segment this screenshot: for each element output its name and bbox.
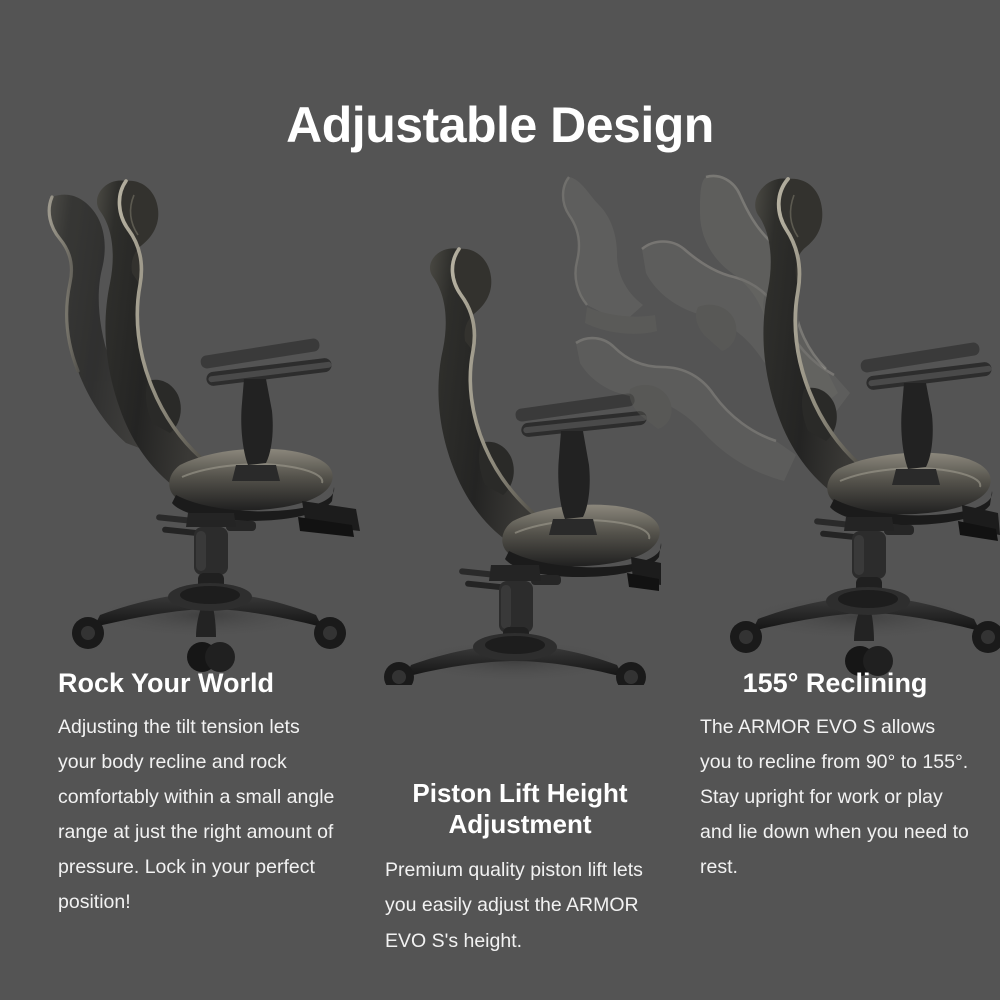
feature-body-recline: The ARMOR EVO S allows you to recline fr… — [700, 710, 970, 885]
page-title: Adjustable Design — [0, 100, 1000, 150]
illustration-stage — [0, 165, 1000, 685]
chair-illustration-rocking — [30, 165, 370, 685]
feature-heading-piston: Piston Lift Height Adjustment — [385, 778, 655, 839]
feature-heading-rock: Rock Your World — [58, 668, 343, 700]
feature-body-rock: Adjusting the tilt tension lets your bod… — [58, 710, 343, 921]
footrest — [958, 505, 1000, 541]
feature-column-piston: Piston Lift Height Adjustment Premium qu… — [385, 778, 655, 959]
infographic-page: Adjustable Design — [0, 0, 1000, 1000]
feature-heading-recline: 155° Reclining — [700, 668, 970, 700]
chair-illustration-reclining — [570, 165, 1000, 685]
footrest — [298, 501, 360, 537]
feature-column-recline: 155° Reclining The ARMOR EVO S allows yo… — [700, 668, 970, 885]
feature-body-piston: Premium quality piston lift lets you eas… — [385, 853, 655, 958]
backrest — [430, 248, 541, 545]
backrest — [97, 180, 208, 491]
feature-column-rock: Rock Your World Adjusting the tilt tensi… — [58, 668, 343, 920]
